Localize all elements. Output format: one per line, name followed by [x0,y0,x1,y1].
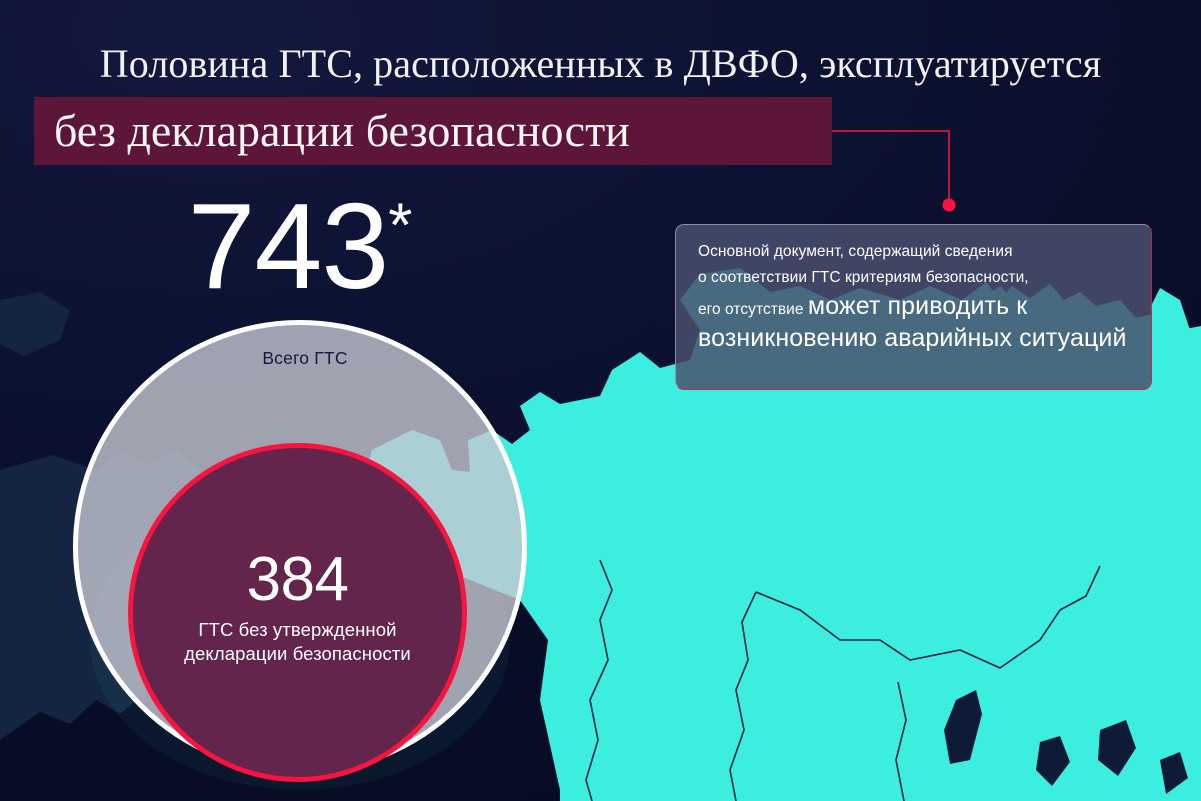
no-declaration-label: ГТС без утвержденной декларации безопасн… [158,618,438,666]
callout-panel: Основной документ, содержащий сведения о… [675,224,1152,390]
page-title-line-1: Половина ГТС, расположенных в ДВФО, эксп… [0,0,1201,84]
no-declaration-circle: 384 ГТС без утвержденной декларации безо… [128,443,467,782]
infographic-canvas: Половина ГТС, расположенных в ДВФО, эксп… [0,0,1201,801]
callout-line-1: Основной документ, содержащий сведения [698,243,1013,260]
callout-text: Основной документ, содержащий сведения о… [698,239,1133,355]
total-stat-value: 743* [0,186,600,306]
title-block: Половина ГТС, расположенных в ДВФО, эксп… [0,0,1201,84]
page-title-line-2: без декларации безопасности [34,97,832,165]
total-number: 743 [188,178,389,314]
total-circle-label: Всего ГТС [78,348,532,369]
callout-line-3: его отсутствие [698,301,808,318]
title-highlight-box: без декларации безопасности [34,97,832,165]
footnote-asterisk: * [388,191,412,260]
callout-line-2: о соответствии ГТС критериям безопасност… [698,269,1029,286]
no-declaration-value: 384 [247,548,349,612]
